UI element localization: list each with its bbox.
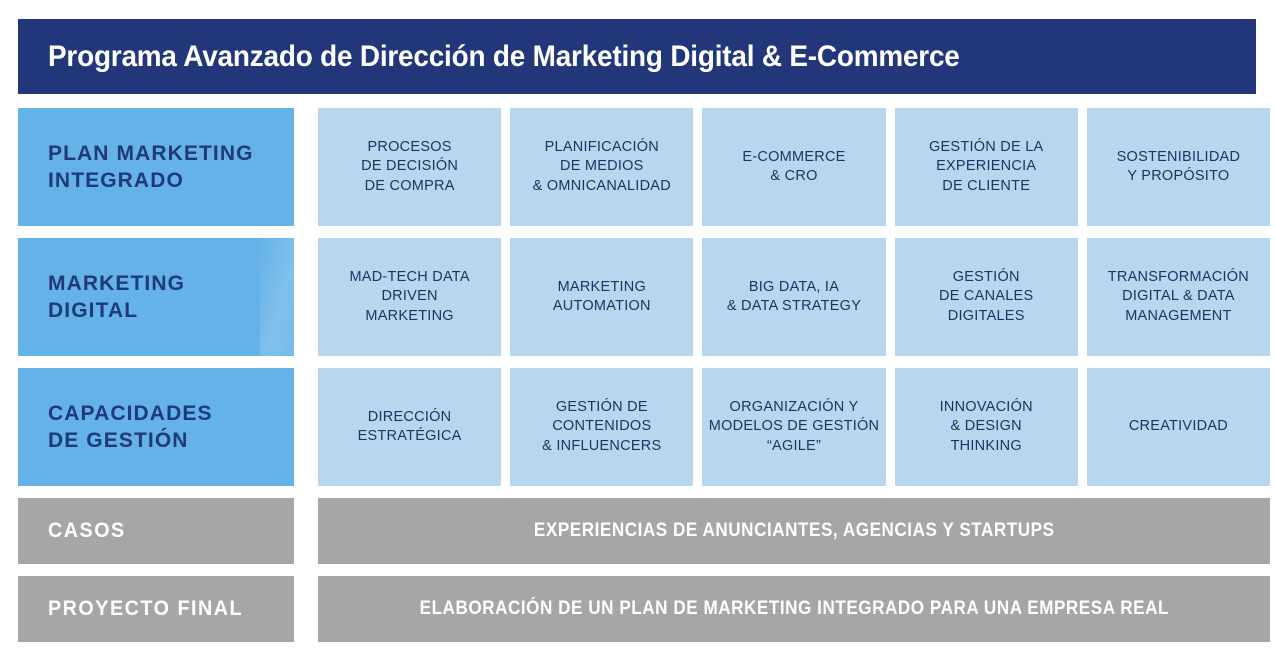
course-cell: ORGANIZACIÓN Y MODELOS DE GESTIÓN “AGILE… — [702, 368, 885, 486]
course-cell-text: DIRECCIÓN ESTRATÉGICA — [358, 408, 462, 446]
gray-banner-text: EXPERIENCIAS DE ANUNCIANTES, AGENCIAS Y … — [534, 520, 1055, 542]
course-cell-line: DIGITALES — [939, 307, 1033, 326]
module-label-line: DE GESTIÓN — [48, 427, 213, 454]
course-cell-line: & OMNICANALIDAD — [533, 177, 671, 196]
course-cell-line: PROCESOS — [361, 138, 458, 157]
course-cell-line: DIGITAL & DATA — [1108, 287, 1249, 306]
course-cell: PROCESOS DE DECISIÓN DE COMPRA — [318, 108, 501, 226]
gray-label-proyecto-final: PROYECTO FINAL — [18, 576, 294, 642]
module-label-plan-marketing-integrado: PLAN MARKETING INTEGRADO — [18, 108, 294, 226]
module-label-capacidades-de-gestion: CAPACIDADES DE GESTIÓN — [18, 368, 294, 486]
course-cell-line: “AGILE” — [709, 437, 879, 456]
gray-label-text: CASOS — [48, 517, 126, 544]
course-cell-line: DE COMPRA — [361, 177, 458, 196]
course-cell-line: CREATIVIDAD — [1129, 417, 1228, 436]
module-label-line: CAPACIDADES — [48, 400, 213, 427]
gray-row-proyecto-final: PROYECTO FINAL ELABORACIÓN DE UN PLAN DE… — [18, 576, 1270, 642]
course-cell-line: TRANSFORMACIÓN — [1108, 268, 1249, 287]
module-label-line: PLAN MARKETING — [48, 140, 254, 167]
course-cell-line: BIG DATA, IA — [727, 278, 861, 297]
gray-row-casos: CASOS EXPERIENCIAS DE ANUNCIANTES, AGENC… — [18, 498, 1270, 564]
course-cell-line: DE MEDIOS — [533, 157, 671, 176]
course-cell: CREATIVIDAD — [1087, 368, 1270, 486]
course-cell-text: SOSTENIBILIDAD Y PROPÓSITO — [1117, 148, 1241, 186]
course-cell-line: MARKETING — [553, 278, 651, 297]
course-cell-line: ESTRATÉGICA — [358, 427, 462, 446]
course-cell-line: DE CLIENTE — [929, 177, 1043, 196]
course-cell-line: ORGANIZACIÓN Y — [709, 398, 879, 417]
gray-label-casos: CASOS — [18, 498, 294, 564]
module-label-text: PLAN MARKETING INTEGRADO — [48, 140, 254, 195]
course-cell: DIRECCIÓN ESTRATÉGICA — [318, 368, 501, 486]
course-cell-line: GESTIÓN DE — [542, 398, 661, 417]
module-label-line: DIGITAL — [48, 297, 185, 324]
course-cell: SOSTENIBILIDAD Y PROPÓSITO — [1087, 108, 1270, 226]
module-row-capacidades-de-gestion: CAPACIDADES DE GESTIÓN DIRECCIÓN ESTRATÉ… — [18, 368, 1270, 486]
module-cells: PROCESOS DE DECISIÓN DE COMPRA PLANIFICA… — [318, 108, 1270, 226]
course-cell: BIG DATA, IA & DATA STRATEGY — [702, 238, 885, 356]
course-cell-text: PLANIFICACIÓN DE MEDIOS & OMNICANALIDAD — [533, 138, 671, 195]
module-cells: MAD-TECH DATA DRIVEN MARKETING MARKETING… — [318, 238, 1270, 356]
course-cell: E-COMMERCE & CRO — [702, 108, 885, 226]
course-cell-line: & CRO — [742, 167, 845, 186]
course-cell: GESTIÓN DE CANALES DIGITALES — [895, 238, 1078, 356]
program-curriculum-diagram: Programa Avanzado de Dirección de Market… — [0, 0, 1275, 666]
course-cell-text: MARKETING AUTOMATION — [553, 278, 651, 316]
course-cell-line: MAD-TECH DATA — [349, 268, 469, 287]
course-cell-line: DIRECCIÓN — [358, 408, 462, 427]
course-cell-line: & DESIGN — [940, 417, 1033, 436]
course-cell-text: CREATIVIDAD — [1129, 417, 1228, 436]
gray-banner-proyecto-final: ELABORACIÓN DE UN PLAN DE MARKETING INTE… — [318, 576, 1270, 642]
course-cell: MARKETING AUTOMATION — [510, 238, 693, 356]
course-cell-line: MODELOS DE GESTIÓN — [709, 417, 879, 436]
course-cell-line: GESTIÓN — [939, 268, 1033, 287]
course-cell-line: MANAGEMENT — [1108, 307, 1249, 326]
course-cell-line: EXPERIENCIA — [929, 157, 1043, 176]
course-cell-line: & DATA STRATEGY — [727, 297, 861, 316]
course-cell-text: MAD-TECH DATA DRIVEN MARKETING — [349, 268, 469, 325]
module-label-line: MARKETING — [48, 270, 185, 297]
gray-banner-text: ELABORACIÓN DE UN PLAN DE MARKETING INTE… — [419, 598, 1168, 620]
course-cell-line: SOSTENIBILIDAD — [1117, 148, 1241, 167]
page-title: Programa Avanzado de Dirección de Market… — [48, 40, 960, 74]
course-cell-line: DRIVEN — [349, 287, 469, 306]
module-row-plan-marketing-integrado: PLAN MARKETING INTEGRADO PROCESOS DE DEC… — [18, 108, 1270, 226]
course-cell-text: GESTIÓN DE CONTENIDOS & INFLUENCERS — [542, 398, 661, 455]
course-cell: INNOVACIÓN & DESIGN THINKING — [895, 368, 1078, 486]
course-cell-text: ORGANIZACIÓN Y MODELOS DE GESTIÓN “AGILE… — [709, 398, 879, 455]
course-cell: GESTIÓN DE LA EXPERIENCIA DE CLIENTE — [895, 108, 1078, 226]
course-cell-line: DE CANALES — [939, 287, 1033, 306]
course-cell-line: GESTIÓN DE LA — [929, 138, 1043, 157]
module-label-line: INTEGRADO — [48, 167, 254, 194]
module-cells: DIRECCIÓN ESTRATÉGICA GESTIÓN DE CONTENI… — [318, 368, 1270, 486]
course-cell-text: PROCESOS DE DECISIÓN DE COMPRA — [361, 138, 458, 195]
course-cell-text: TRANSFORMACIÓN DIGITAL & DATA MANAGEMENT — [1108, 268, 1249, 325]
module-label-text: MARKETING DIGITAL — [48, 270, 185, 325]
course-cell-line: AUTOMATION — [553, 297, 651, 316]
course-cell-line: THINKING — [940, 437, 1033, 456]
program-title-banner: Programa Avanzado de Dirección de Market… — [18, 19, 1256, 94]
gray-banner-casos: EXPERIENCIAS DE ANUNCIANTES, AGENCIAS Y … — [318, 498, 1270, 564]
course-cell-text: GESTIÓN DE CANALES DIGITALES — [939, 268, 1033, 325]
module-row-marketing-digital: MARKETING DIGITAL MAD-TECH DATA DRIVEN M… — [18, 238, 1270, 356]
course-cell: TRANSFORMACIÓN DIGITAL & DATA MANAGEMENT — [1087, 238, 1270, 356]
course-cell-line: E-COMMERCE — [742, 148, 845, 167]
course-cell-line: MARKETING — [349, 307, 469, 326]
course-cell-text: BIG DATA, IA & DATA STRATEGY — [727, 278, 861, 316]
gray-label-text: PROYECTO FINAL — [48, 595, 243, 622]
course-cell-text: GESTIÓN DE LA EXPERIENCIA DE CLIENTE — [929, 138, 1043, 195]
course-cell: MAD-TECH DATA DRIVEN MARKETING — [318, 238, 501, 356]
course-cell: GESTIÓN DE CONTENIDOS & INFLUENCERS — [510, 368, 693, 486]
module-label-text: CAPACIDADES DE GESTIÓN — [48, 400, 213, 455]
course-cell-line: CONTENIDOS — [542, 417, 661, 436]
course-cell-line: & INFLUENCERS — [542, 437, 661, 456]
course-cell-line: PLANIFICACIÓN — [533, 138, 671, 157]
course-cell: PLANIFICACIÓN DE MEDIOS & OMNICANALIDAD — [510, 108, 693, 226]
course-cell-line: INNOVACIÓN — [940, 398, 1033, 417]
course-cell-text: E-COMMERCE & CRO — [742, 148, 845, 186]
course-cell-line: Y PROPÓSITO — [1117, 167, 1241, 186]
module-label-marketing-digital: MARKETING DIGITAL — [18, 238, 294, 356]
course-cell-line: DE DECISIÓN — [361, 157, 458, 176]
course-cell-text: INNOVACIÓN & DESIGN THINKING — [940, 398, 1033, 455]
